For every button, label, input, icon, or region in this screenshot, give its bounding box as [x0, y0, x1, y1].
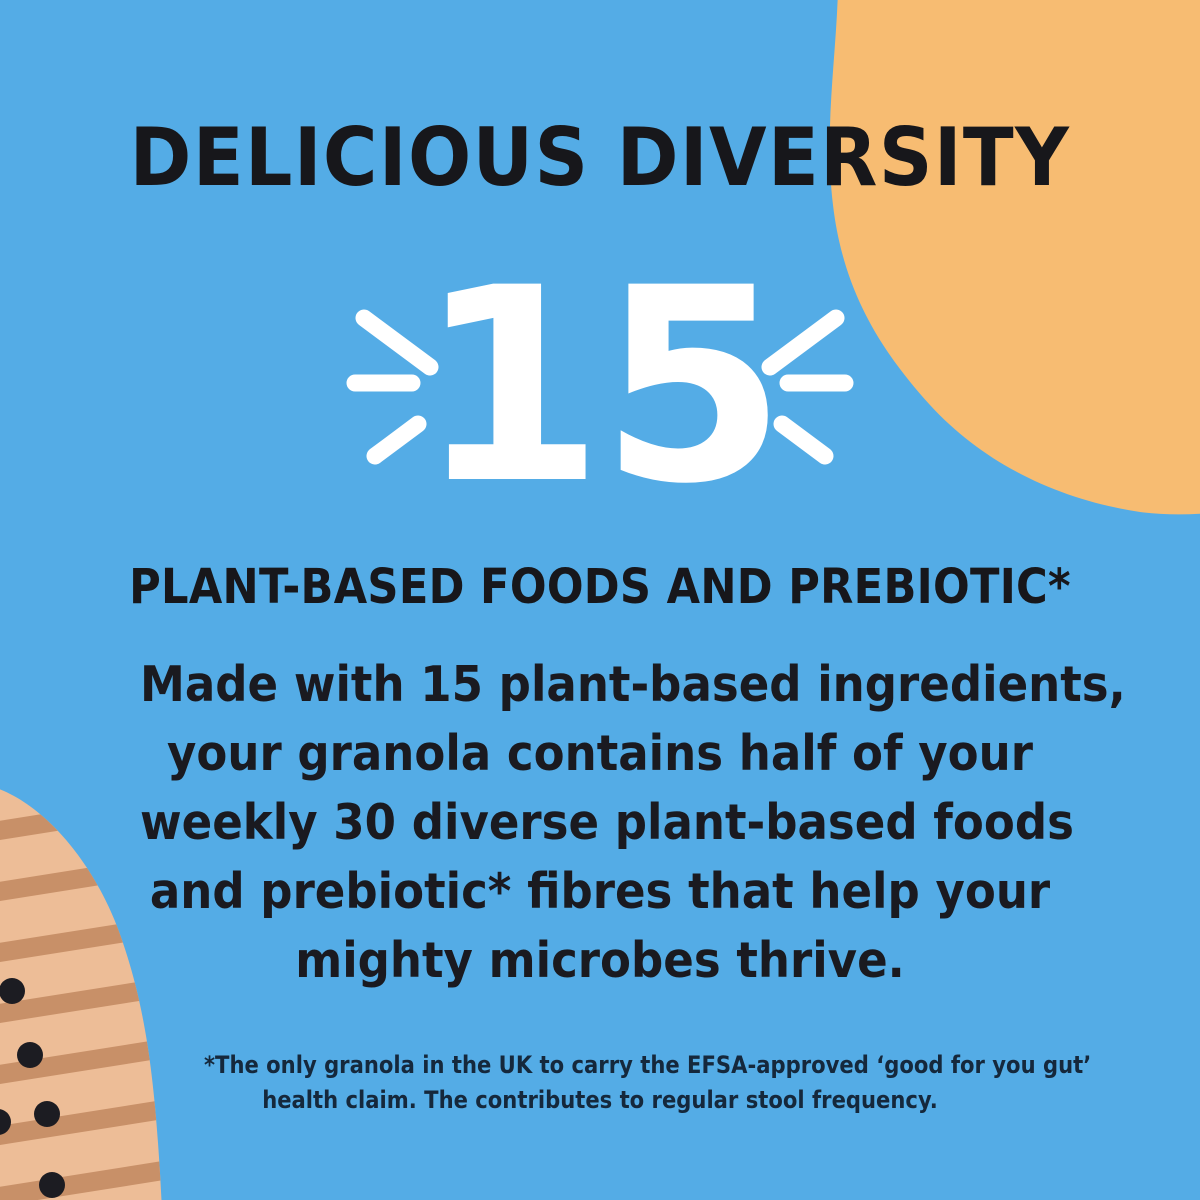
feature-number: 15	[0, 262, 1200, 512]
body-line: your granola contains half of your	[140, 719, 1060, 788]
subheading: PLANT-BASED FOODS AND PREBIOTIC*	[60, 563, 1140, 611]
body-line: mighty microbes thrive.	[140, 926, 1060, 995]
footnote: *The only granola in the UK to carry the…	[204, 1048, 996, 1118]
scatter-dots	[0, 978, 65, 1198]
body-line: and prebiotic* fibres that help your	[140, 857, 1060, 926]
feature-number-block: 15	[0, 262, 1200, 512]
promotional-graphic: DELICIOUS DIVERSITY 15 PLANT-BASED FOODS…	[0, 0, 1200, 1200]
footnote-line: health claim. The contributes to regular…	[204, 1083, 996, 1118]
page-title: DELICIOUS DIVERSITY	[42, 118, 1158, 198]
body-line: Made with 15 plant-based ingredients,	[140, 650, 1060, 719]
body-line: weekly 30 diverse plant-based foods	[140, 788, 1060, 857]
body-paragraph: Made with 15 plant-based ingredients, yo…	[140, 650, 1060, 995]
footnote-line: *The only granola in the UK to carry the…	[204, 1048, 996, 1083]
